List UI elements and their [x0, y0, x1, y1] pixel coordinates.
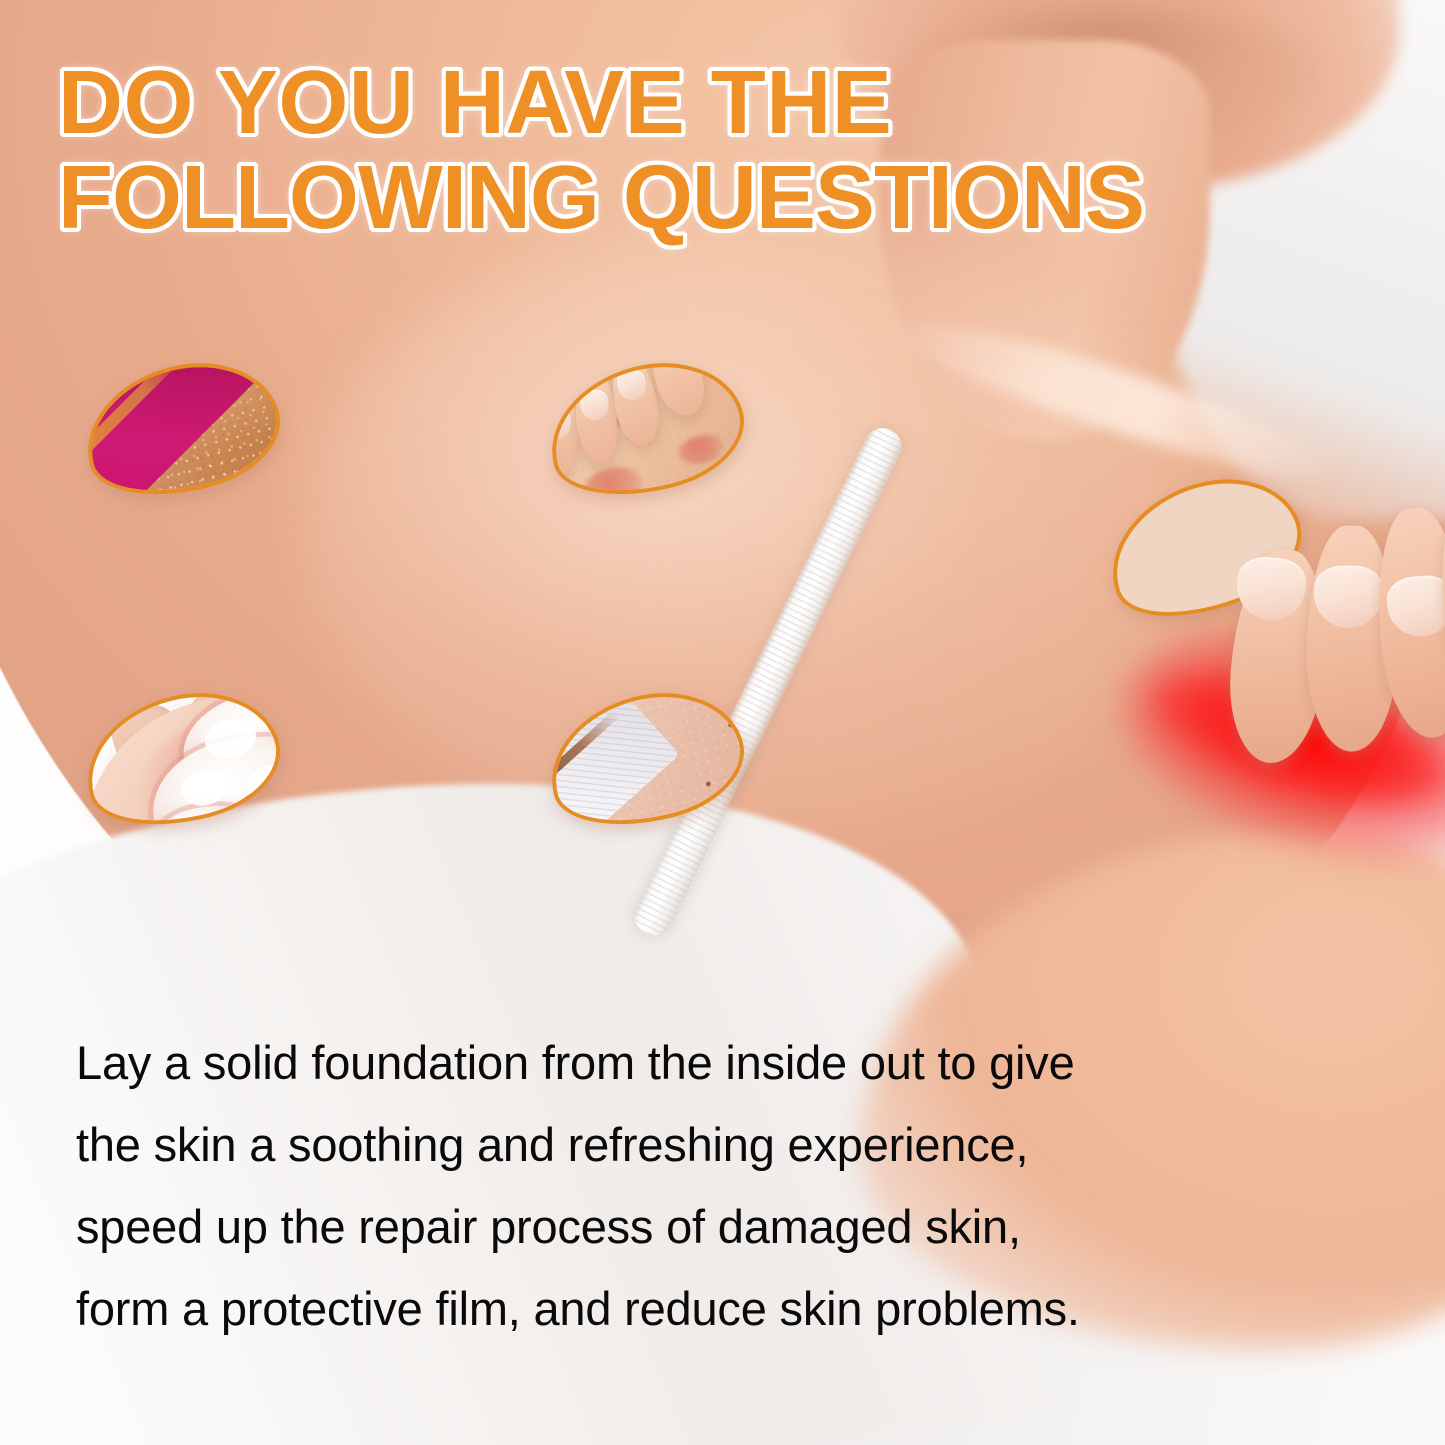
goosebump-skin-thumbnail[interactable]: [72, 344, 293, 514]
psoriasis-hand-thumbnail[interactable]: [72, 674, 293, 844]
body-copy-line-2: the skin a soothing and refreshing exper…: [76, 1104, 1376, 1186]
acne-rash-image: [541, 349, 752, 509]
body-copy: Lay a solid foundation from the inside o…: [76, 1022, 1376, 1350]
skincare-promo-poster: DO YOU HAVE THE FOLLOWING QUESTIONS: [0, 0, 1445, 1445]
headline-line-1: DO YOU HAVE THE: [58, 56, 1418, 151]
acne-rash-thumbnail[interactable]: [536, 344, 757, 514]
headline-line-2: FOLLOWING QUESTIONS: [58, 151, 1418, 246]
psoriasis-hand-image: [77, 679, 288, 839]
enlarged-pores-image: [541, 679, 752, 839]
enlarged-pores-thumbnail[interactable]: [536, 674, 757, 844]
body-copy-line-1: Lay a solid foundation from the inside o…: [76, 1022, 1376, 1104]
body-copy-line-4: form a protective film, and reduce skin …: [76, 1268, 1376, 1350]
hand-pressing-shoulder: [1074, 450, 1445, 820]
symptom-thumbnail-grid: [58, 360, 936, 968]
body-copy-line-3: speed up the repair process of damaged s…: [76, 1186, 1376, 1268]
headline: DO YOU HAVE THE FOLLOWING QUESTIONS: [58, 56, 1418, 247]
goosebump-skin-image: [77, 349, 288, 509]
